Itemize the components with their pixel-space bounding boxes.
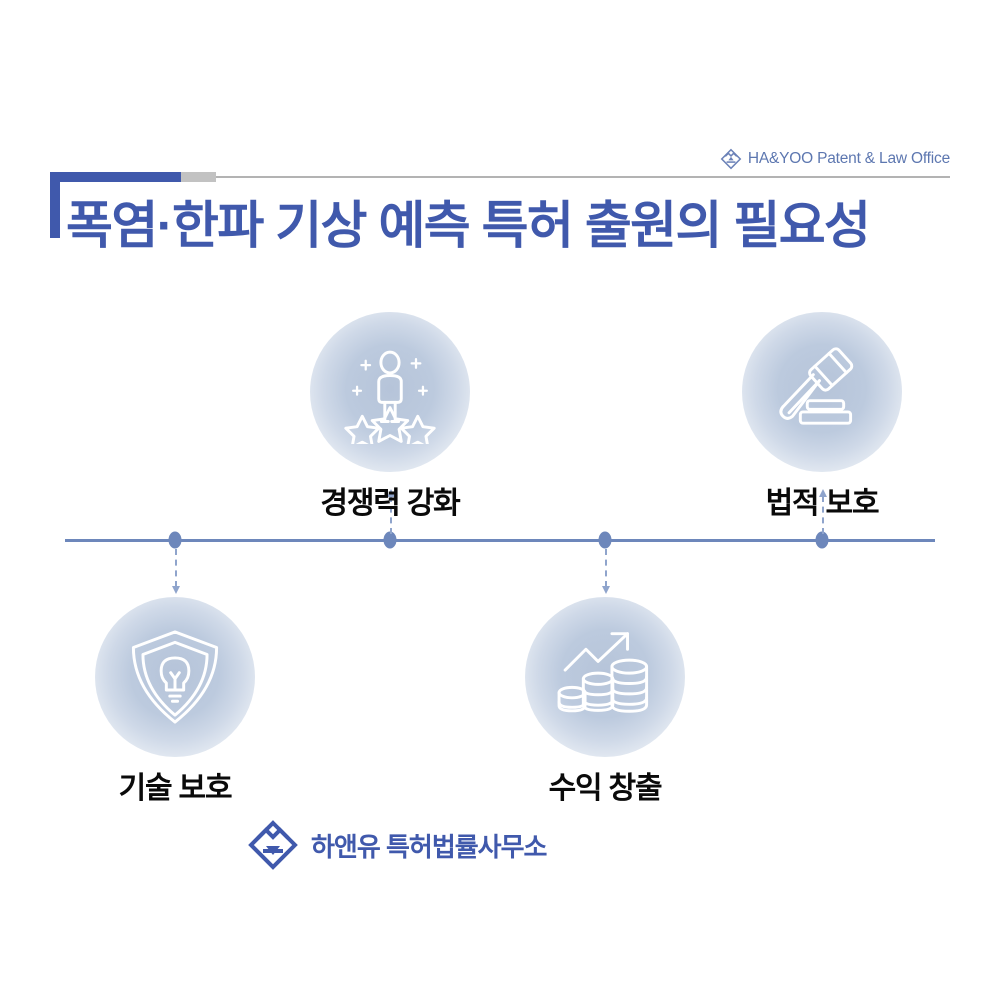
page-title: 폭염·한파 기상 예측 특허 출원의 필요성	[66, 196, 966, 256]
header-rule-gray	[180, 172, 216, 182]
person-stars-icon	[310, 312, 470, 472]
timeline-node-label-tech-protection: 기술 보호	[45, 763, 305, 807]
footer-logo-text: 하앤유 특허법률사무소	[311, 827, 546, 864]
shield-lightbulb-icon	[95, 597, 255, 757]
timeline-dot-legal-protection	[816, 532, 829, 549]
timeline-node-legal-protection[interactable]: 법적 보호	[692, 312, 952, 522]
timeline-dot-competitiveness	[384, 532, 397, 549]
timeline-node-label-legal-protection: 법적 보호	[692, 478, 952, 522]
header-brand-text: HA&YOO Patent & Law Office	[748, 150, 950, 168]
header-rule-thin	[215, 176, 950, 178]
timeline-dot-revenue	[599, 532, 612, 549]
hayoo-diamond-logo-icon	[248, 820, 298, 870]
timeline-node-label-competitiveness: 경쟁력 강화	[260, 478, 520, 522]
hayoo-diamond-logo-icon	[720, 148, 742, 170]
connector-revenue	[605, 549, 607, 587]
timeline-node-revenue[interactable]: 수익 창출	[475, 597, 735, 807]
title-bracket-horizontal	[50, 172, 181, 182]
header-brand: HA&YOO Patent & Law Office	[720, 148, 950, 170]
gavel-icon	[742, 312, 902, 472]
coins-growth-arrow-icon	[525, 597, 685, 757]
connector-tech-protection	[175, 549, 177, 587]
timeline-node-tech-protection[interactable]: 기술 보호	[45, 597, 305, 807]
timeline-axis	[65, 539, 935, 542]
slide-canvas: HA&YOO Patent & Law Office 폭염·한파 기상 예측 특…	[0, 0, 1000, 1000]
footer-logo: 하앤유 특허법률사무소	[248, 820, 546, 870]
timeline-node-competitiveness[interactable]: 경쟁력 강화	[260, 312, 520, 522]
timeline-dot-tech-protection	[169, 532, 182, 549]
title-bracket-vertical	[50, 172, 60, 238]
timeline-node-label-revenue: 수익 창출	[475, 763, 735, 807]
